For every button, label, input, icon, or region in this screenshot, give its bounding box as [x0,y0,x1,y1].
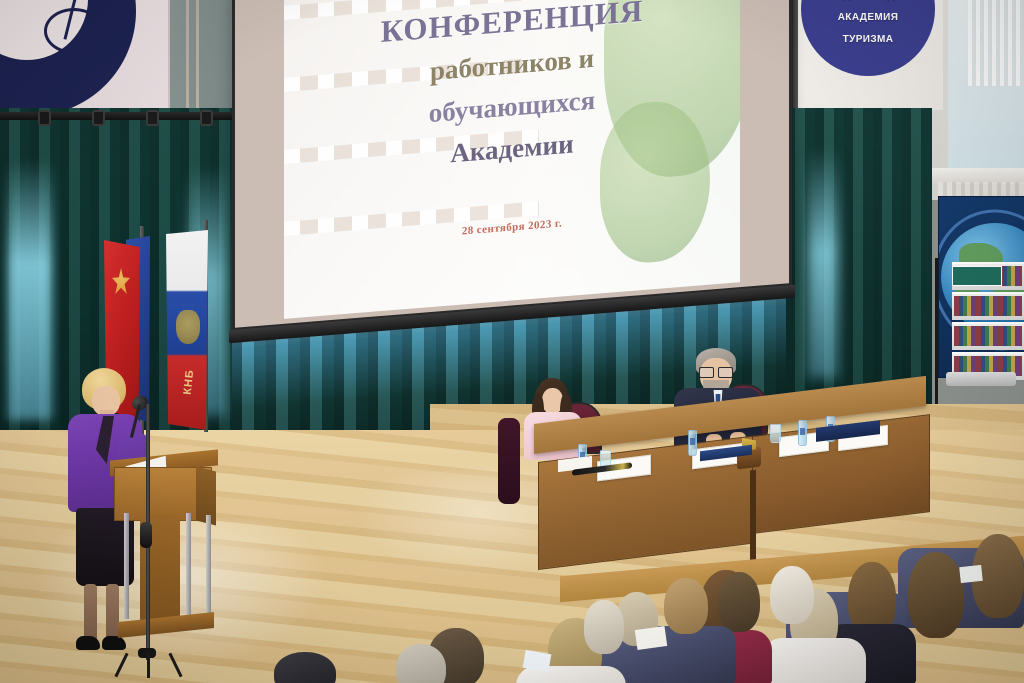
podium-leg [186,513,191,619]
tripod-leg [147,652,150,678]
attendee-head [718,572,760,632]
curtain-ring [92,110,105,126]
curtain-backlight [8,160,52,420]
attendee-shoulders [762,638,866,683]
banner-line-3: ТУРИЗМА [801,34,935,45]
rack-shelf [952,322,1024,350]
banner-pole [791,0,798,110]
drinking-glass [770,424,781,443]
podium [110,455,218,645]
right-wall-banner: МЕЖДУНАРОДНАЯ АКАДЕМИЯ ТУРИЗМА [790,0,943,110]
podium-leg [206,515,211,621]
speaker-leg [84,584,97,642]
attendee-head [396,644,446,683]
left-wall-banner [0,0,170,118]
attendee-handout [635,626,667,650]
rack-books [954,296,1022,316]
conference-hall-photo: МЕЖДУНАРОДНАЯ АКАДЕМИЯ ТУРИЗМА XXI КОНФЕ… [0,0,1024,683]
curtain-backlight [808,148,838,378]
projection-screen: XXI КОНФЕРЕНЦИЯ работников и обучающихся… [232,0,792,331]
water-bottle [688,430,697,456]
rack-books [954,326,1022,346]
rack-shelf [952,292,1024,320]
curtain-ring [146,110,159,126]
glasses-lens [718,367,733,378]
window-blinds [968,0,1024,86]
banner-line-1: МЕЖДУНАРОДНАЯ [801,0,935,1]
projected-slide: XXI КОНФЕРЕНЦИЯ работников и обучающихся… [284,0,740,319]
attendee-head [770,566,814,624]
attendee-head [908,552,964,638]
eyeglasses-icon [699,367,733,376]
rack-label-sign [952,266,1002,286]
double-headed-eagle-icon [176,310,200,344]
curtain-ring [200,110,213,126]
presidium-chair [498,418,520,504]
attendee-handout [959,565,983,583]
speaker-shoe [76,636,100,650]
attendee-head [664,578,708,634]
curtain-ring [38,110,51,126]
microphone-clamp [140,522,152,548]
attendee-head [584,600,624,654]
banner-line-2: АКАДЕМИЯ [801,12,935,23]
glasses-lens [699,367,714,378]
rack-wheels [946,372,1016,386]
banner-emblem-ring-icon [44,8,104,54]
podium-leg [124,513,129,619]
water-bottle [798,420,807,446]
